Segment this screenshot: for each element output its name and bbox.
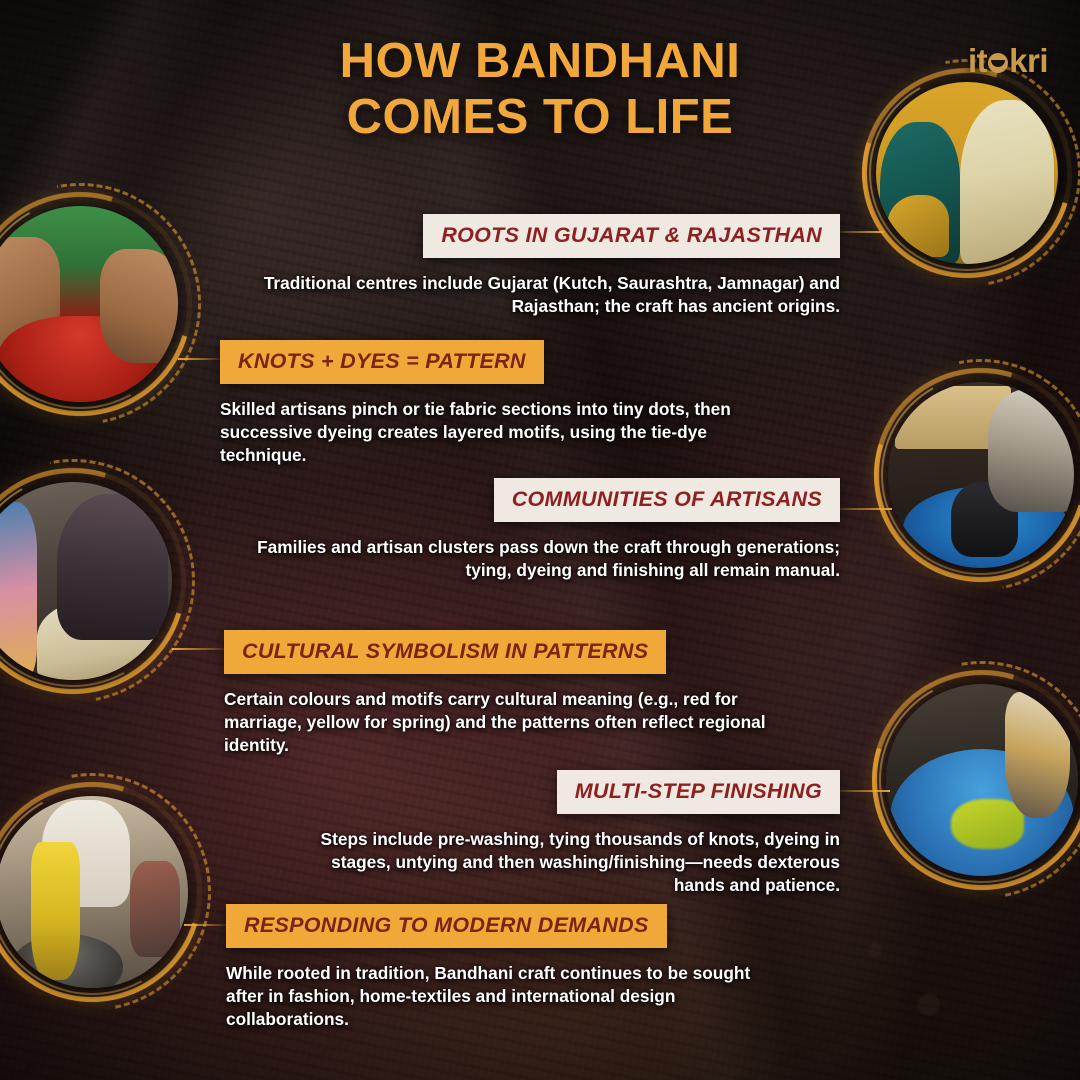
logo-text-pre: it xyxy=(968,42,987,80)
section-body-symbolism: Certain colours and motifs carry cultura… xyxy=(224,688,784,757)
connector-line-knots xyxy=(178,358,220,360)
photo-dyer-blue-tub xyxy=(888,382,1074,568)
section-heading-finishing[interactable]: MULTI-STEP FINISHING xyxy=(557,770,840,814)
section-heading-knots[interactable]: KNOTS + DYES = PATTERN xyxy=(220,340,544,384)
section-finishing: MULTI-STEP FINISHING Steps include pre-w… xyxy=(300,770,840,897)
section-modern: RESPONDING TO MODERN DEMANDS While roote… xyxy=(226,904,786,1031)
connector-line-symbolism xyxy=(172,648,224,650)
section-body-knots: Skilled artisans pinch or tie fabric sec… xyxy=(220,398,760,467)
connector-line-communities xyxy=(836,508,892,510)
connector-line-modern xyxy=(184,924,226,926)
infographic-canvas: HOW BANDHANI COMES TO LIFE it kri xyxy=(0,0,1080,1080)
section-heading-roots[interactable]: ROOTS IN GUJARAT & RAJASTHAN xyxy=(423,214,840,258)
photo-elder-artisan-tying xyxy=(0,482,172,680)
photo-image xyxy=(0,206,178,402)
title-line-2: COMES TO LIFE xyxy=(0,90,1080,146)
section-knots: KNOTS + DYES = PATTERN Skilled artisans … xyxy=(220,340,760,467)
connector-line-finishing xyxy=(838,790,890,792)
section-symbolism: CULTURAL SYMBOLISM IN PATTERNS Certain c… xyxy=(224,630,784,757)
section-body-roots: Traditional centres include Gujarat (Kut… xyxy=(250,272,840,318)
section-body-finishing: Steps include pre-washing, tying thousan… xyxy=(300,828,840,897)
photo-indigo-vat-dipping xyxy=(886,684,1078,876)
logo-o-mark-icon xyxy=(988,53,1008,73)
photo-image xyxy=(886,684,1078,876)
section-heading-symbolism[interactable]: CULTURAL SYMBOLISM IN PATTERNS xyxy=(224,630,666,674)
connector-line-roots xyxy=(838,231,884,233)
page-title: HOW BANDHANI COMES TO LIFE xyxy=(0,34,1080,146)
itokri-logo[interactable]: it kri xyxy=(968,42,1048,80)
logo-text-post: kri xyxy=(1009,42,1048,80)
photo-image xyxy=(888,382,1074,568)
section-roots: ROOTS IN GUJARAT & RAJASTHAN Traditional… xyxy=(250,214,840,318)
section-body-communities: Families and artisan clusters pass down … xyxy=(250,536,840,582)
section-body-modern: While rooted in tradition, Bandhani craf… xyxy=(226,962,786,1031)
photo-hands-tying-red-fabric xyxy=(0,206,178,402)
photo-image xyxy=(0,482,172,680)
photo-image xyxy=(0,796,188,988)
section-communities: COMMUNITIES OF ARTISANS Families and art… xyxy=(250,478,840,582)
title-line-1: HOW BANDHANI xyxy=(0,34,1080,90)
section-heading-modern[interactable]: RESPONDING TO MODERN DEMANDS xyxy=(226,904,667,948)
photo-lifting-yellow-cloth xyxy=(0,796,188,988)
section-heading-communities[interactable]: COMMUNITIES OF ARTISANS xyxy=(494,478,840,522)
